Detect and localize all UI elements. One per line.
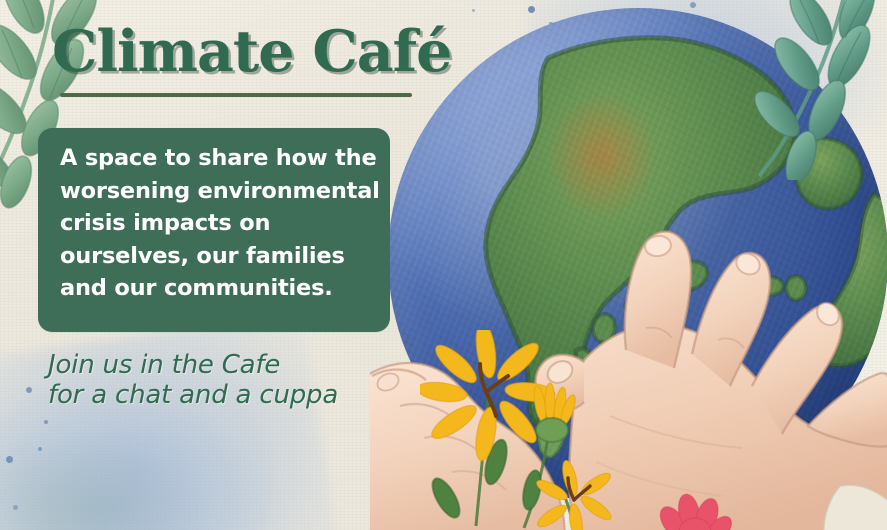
tagline-line-2: for a chat and a cuppa <box>48 380 338 410</box>
tagline-line-1: Join us in the Cafe <box>48 350 338 380</box>
tagline: Join us in the Cafe for a chat and a cup… <box>48 350 338 410</box>
highlight-panel: A space to share how the worsening envir… <box>38 128 390 332</box>
highlight-panel-text: A space to share how the worsening envir… <box>60 142 380 305</box>
climate-cafe-poster: Climate Café A space to share how the wo… <box>0 0 887 530</box>
page-title: Climate Café <box>52 23 451 80</box>
title-underline-rule <box>60 93 412 97</box>
poster-content: Climate Café A space to share how the wo… <box>0 0 887 530</box>
